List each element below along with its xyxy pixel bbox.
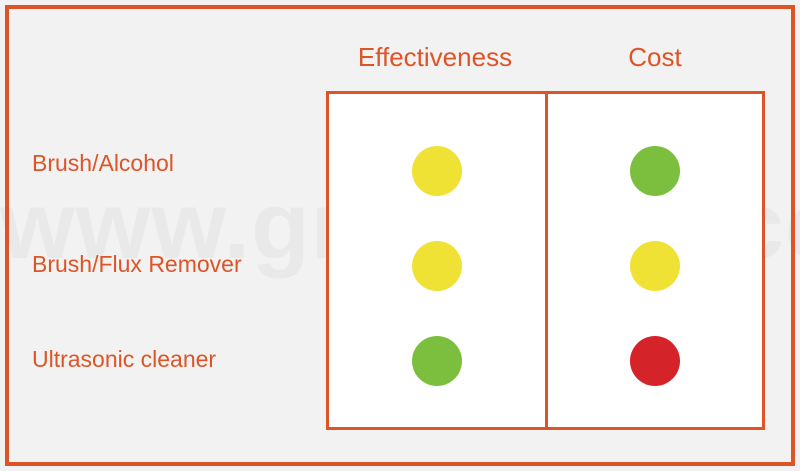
comparison-matrix-table — [326, 91, 765, 430]
column-header-effectiveness: Effectiveness — [325, 40, 545, 74]
comparison-matrix-graphic: www.greattong.com Effectiveness Cost Bru… — [0, 0, 800, 471]
status-dot-effectiveness-ultrasonic-cleaner — [412, 336, 462, 386]
matrix-column-cost — [548, 94, 762, 427]
status-dot-cost-brush-flux-remover — [630, 241, 680, 291]
status-dot-cost-ultrasonic-cleaner — [630, 336, 680, 386]
status-dot-effectiveness-brush-alcohol — [412, 146, 462, 196]
matrix-column-effectiveness — [329, 94, 548, 427]
column-header-cost: Cost — [545, 40, 765, 74]
status-dot-cost-brush-alcohol — [630, 146, 680, 196]
row-label-brush-flux-remover: Brush/Flux Remover — [32, 250, 317, 278]
status-dot-effectiveness-brush-flux-remover — [412, 241, 462, 291]
row-label-brush-alcohol: Brush/Alcohol — [32, 149, 317, 177]
row-label-ultrasonic-cleaner: Ultrasonic cleaner — [32, 345, 317, 373]
